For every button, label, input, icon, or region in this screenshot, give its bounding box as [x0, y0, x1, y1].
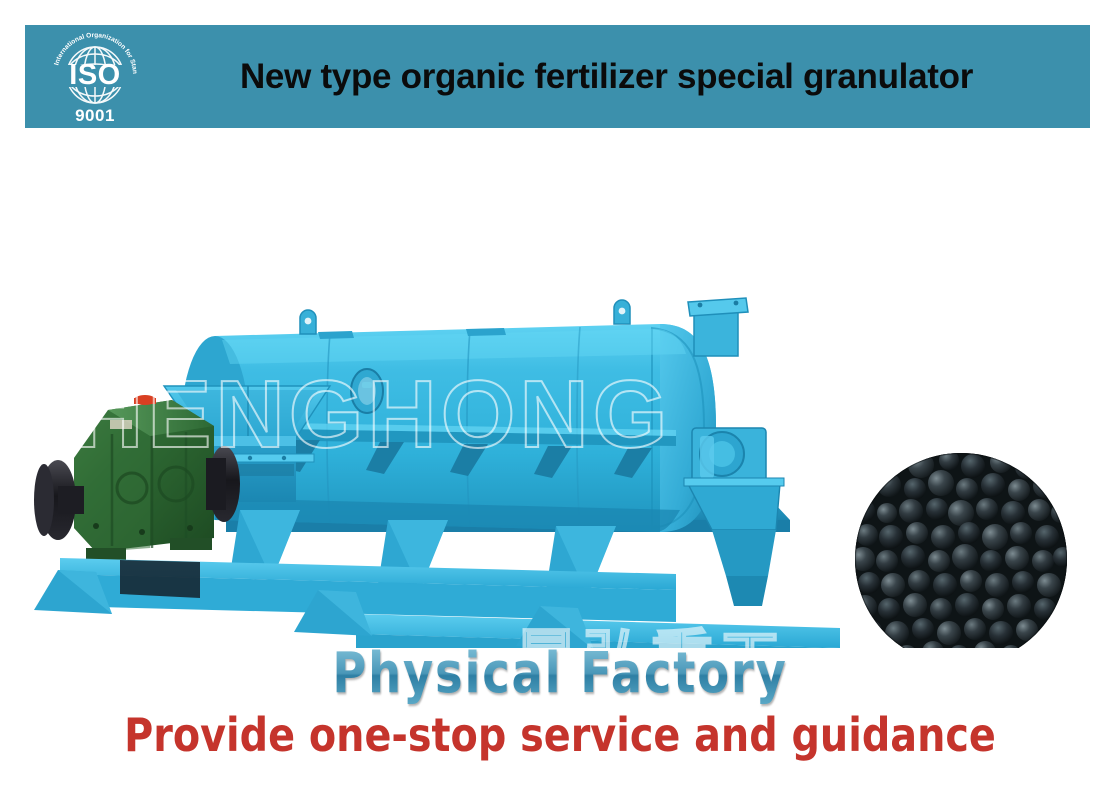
granulator-machine-image	[0, 128, 840, 648]
fertilizer-granules-graphic	[855, 453, 1067, 648]
lifting-lug	[300, 310, 316, 334]
bottom-tagline-block: Physical Factory Provide one-stop servic…	[0, 645, 1120, 760]
header-banner: ISO International Organization for Stand…	[25, 25, 1090, 128]
tagline-secondary: Provide one-stop service and guidance	[22, 710, 1097, 761]
base-skid-frame	[34, 558, 840, 648]
inspection-hatch	[351, 369, 383, 413]
fertilizer-granules-inset	[855, 453, 1067, 648]
product-photo-area: SHENGHONG 晟弘重工	[0, 128, 1120, 648]
iso-9001-logo: ISO International Organization for Stand…	[43, 25, 147, 128]
page-title: New type organic fertilizer special gran…	[147, 57, 1090, 97]
lifting-lug-right	[614, 300, 630, 324]
vent-stack	[688, 298, 748, 356]
tagline-primary: Physical Factory	[45, 645, 1075, 704]
granulator-machine-graphic	[0, 128, 840, 648]
gearbox-drive-unit	[74, 395, 214, 560]
iso-standard-number: 9001	[43, 106, 147, 126]
svg-text:ISO: ISO	[69, 59, 120, 91]
